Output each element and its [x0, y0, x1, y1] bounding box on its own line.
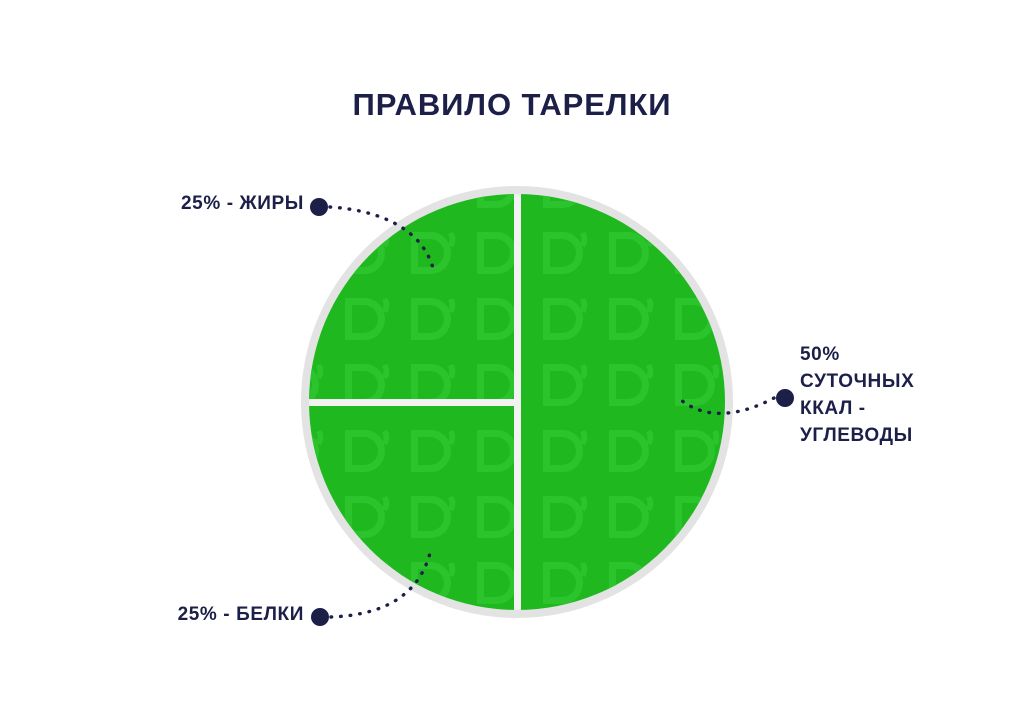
callout-carbs-line-4: УГЛЕВОДЫ [800, 423, 1000, 450]
callout-protein: 25% - БЕЛКИ [0, 604, 304, 626]
plate-divider-horizontal [309, 399, 517, 406]
callout-carbs: 50% СУТОЧНЫХ ККАЛ - УГЛЕВОДЫ [800, 342, 1000, 450]
leader-dot-carbs [776, 389, 794, 407]
callout-fats: 25% - ЖИРЫ [0, 193, 304, 215]
plate-face [309, 194, 725, 610]
callout-carbs-line-2: СУТОЧНЫХ [800, 369, 1000, 396]
callout-carbs-line-1: 50% [800, 342, 1000, 369]
plate-diagram [301, 186, 733, 618]
callout-protein-label: 25% - БЕЛКИ [178, 604, 304, 625]
callout-fats-label: 25% - ЖИРЫ [181, 193, 304, 214]
page-title: ПРАВИЛО ТАРЕЛКИ [0, 87, 1024, 123]
callout-carbs-line-3: ККАЛ - [800, 396, 1000, 423]
infographic-canvas: ПРАВИЛО ТАРЕЛКИ [0, 0, 1024, 723]
